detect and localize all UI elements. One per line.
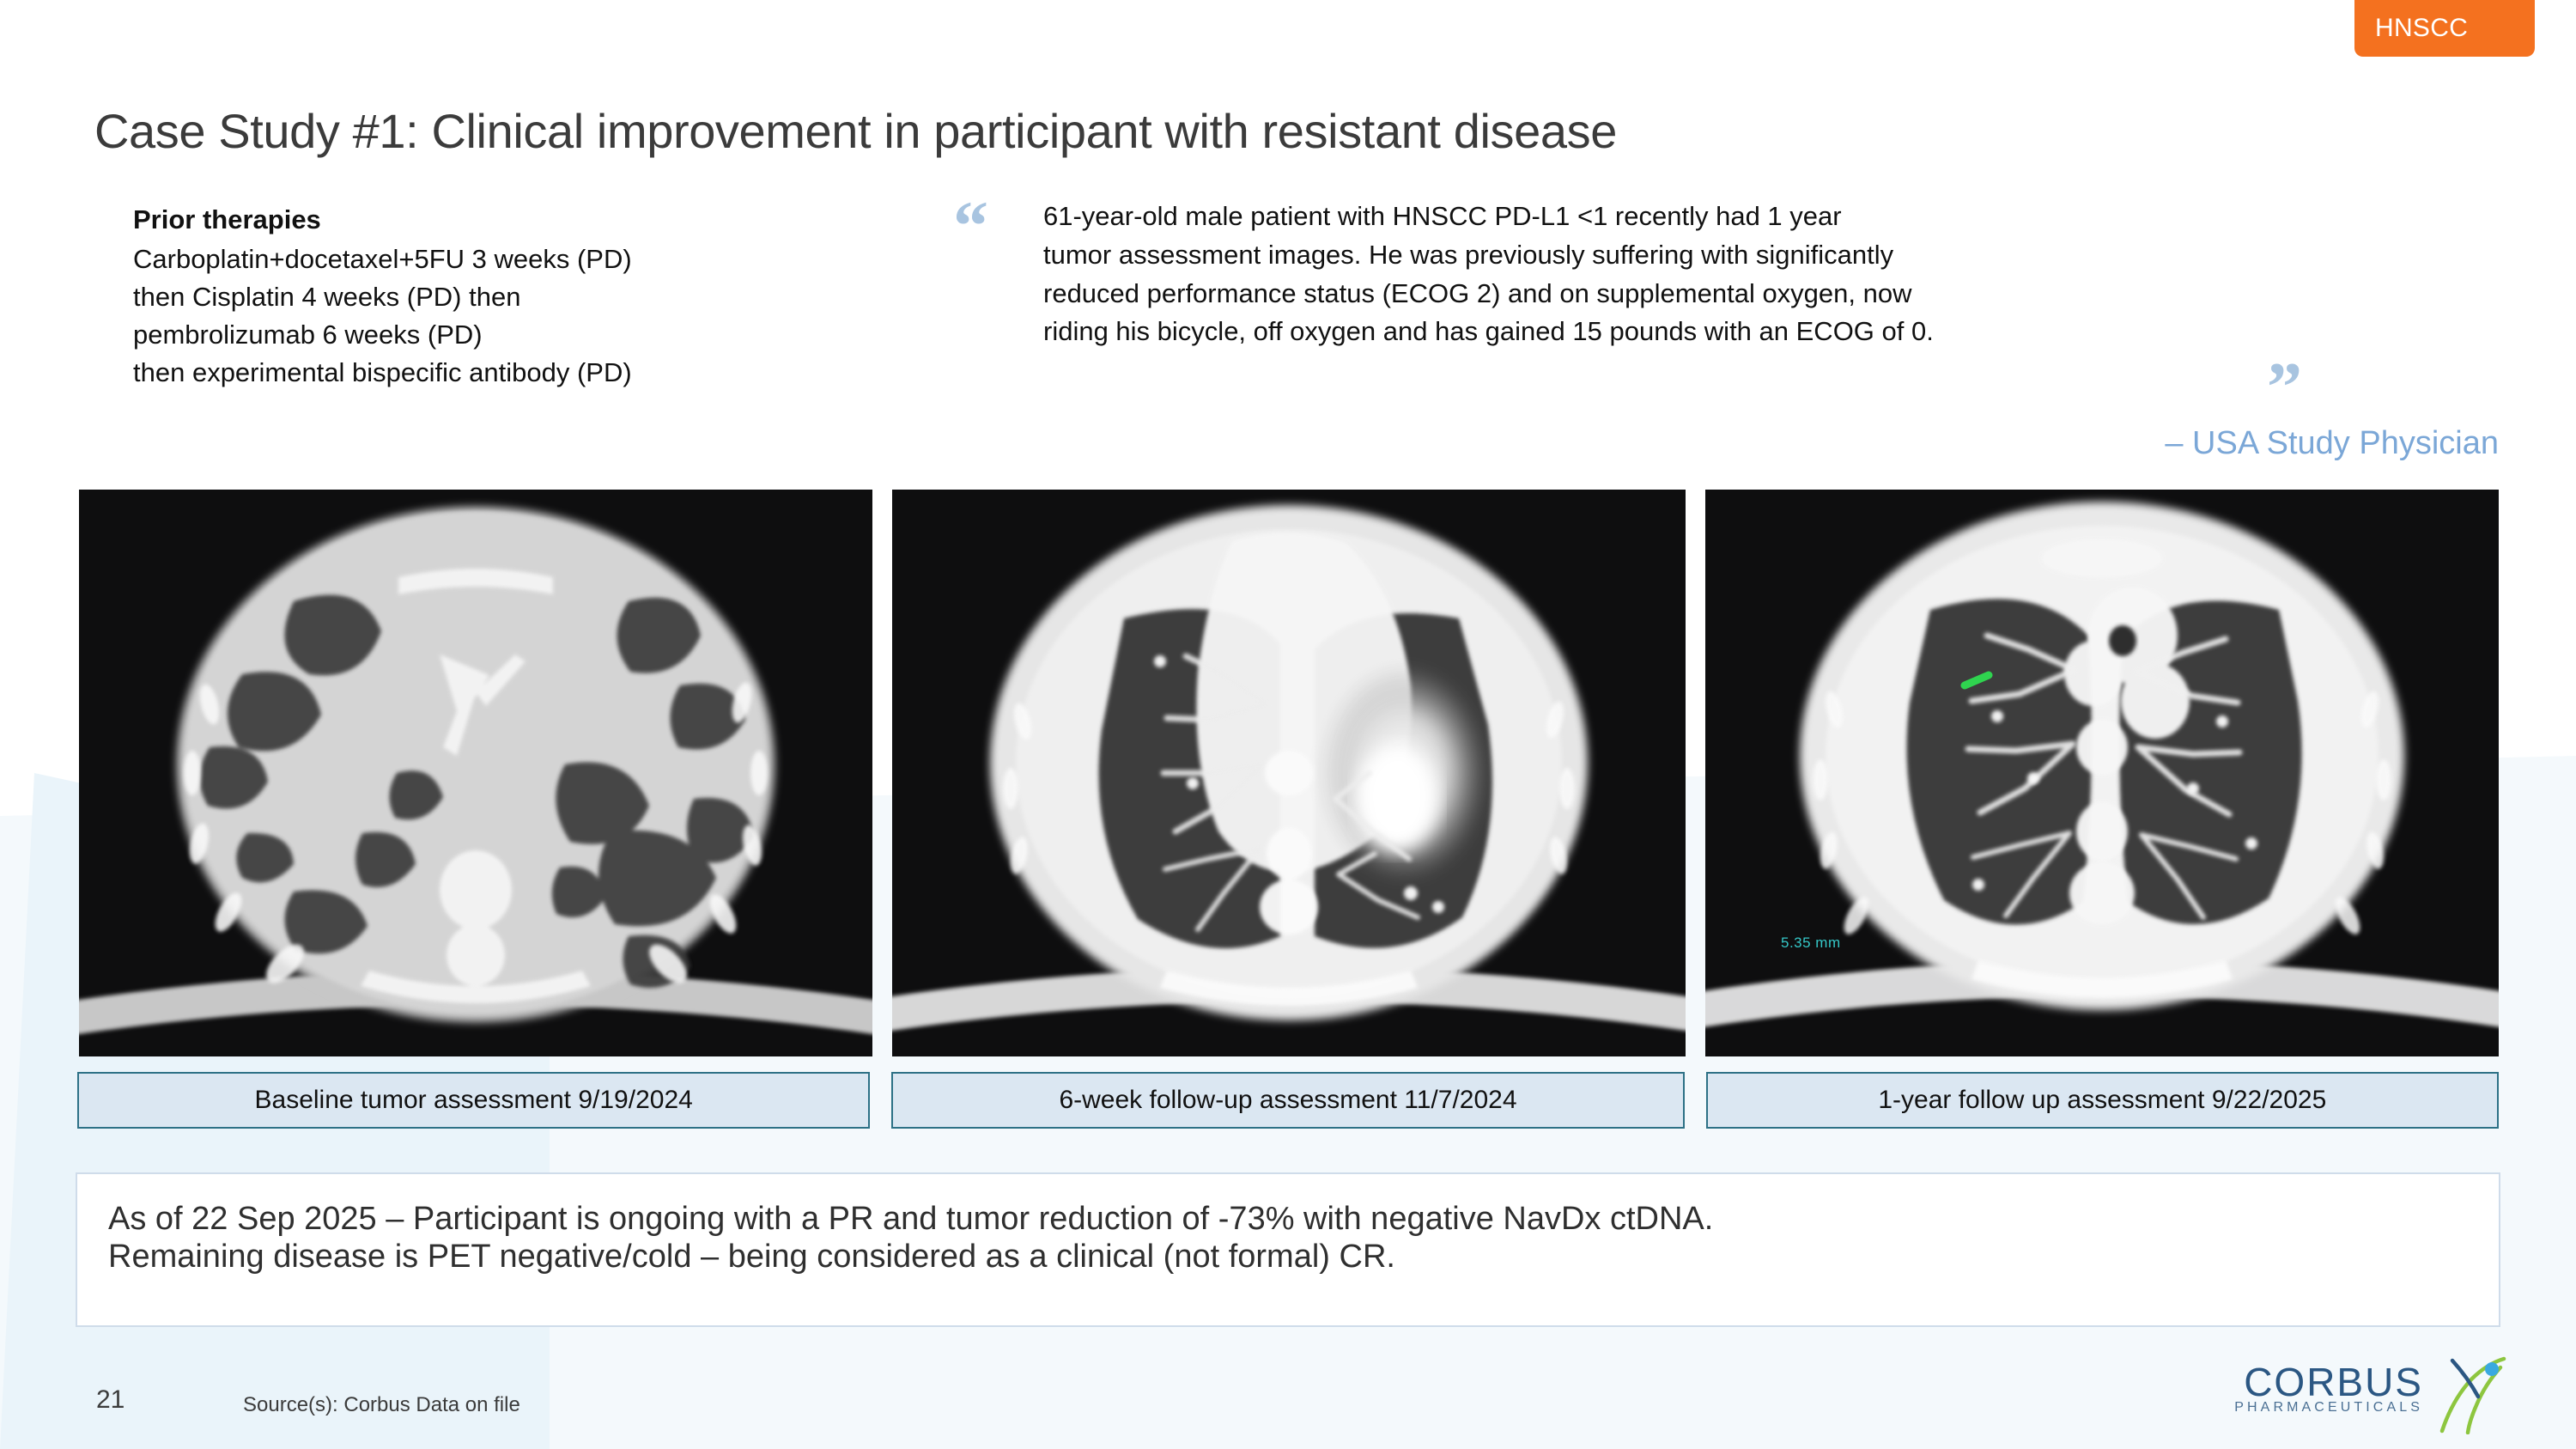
quote-line: riding his bicycle, off oxygen and has g…: [1043, 317, 2263, 346]
summary-line-1: As of 22 Sep 2025 – Participant is ongoi…: [108, 1200, 2468, 1238]
ct-scan-baseline: [79, 490, 872, 1056]
quote-open-icon: “: [953, 191, 988, 261]
ct-six-week-image: [892, 490, 1686, 1056]
prior-therapies-block: Prior therapies Carboplatin+docetaxel+5F…: [133, 204, 932, 396]
ct-scan-six-week: [892, 490, 1686, 1056]
page-title: Case Study #1: Clinical improvement in p…: [94, 103, 1617, 159]
corbus-mark-icon: [2428, 1355, 2521, 1434]
quote-attribution: – USA Study Physician: [2165, 425, 2499, 462]
ct-caption-row: Baseline tumor assessment 9/19/2024 6-we…: [77, 1072, 2499, 1129]
caption-baseline: Baseline tumor assessment 9/19/2024: [77, 1072, 870, 1129]
prior-therapies-line: pembrolizumab 6 weeks (PD): [133, 321, 932, 350]
prior-therapies-line: Carboplatin+docetaxel+5FU 3 weeks (PD): [133, 246, 932, 274]
status-badge-label: HNSCC: [2375, 14, 2468, 42]
caption-six-week: 6-week follow-up assessment 11/7/2024: [891, 1072, 1684, 1129]
ct-one-year-image: [1705, 490, 2499, 1056]
physician-quote-block: 61-year-old male patient with HNSCC PD-L…: [1043, 202, 2263, 356]
page-number: 21: [96, 1385, 125, 1415]
quote-line: tumor assessment images. He was previous…: [1043, 240, 2263, 270]
quote-close-icon: ”: [2267, 352, 2302, 423]
ct-baseline-image: [79, 490, 872, 1056]
caption-one-year: 1-year follow up assessment 9/22/2025: [1706, 1072, 2499, 1129]
quote-line: 61-year-old male patient with HNSCC PD-L…: [1043, 202, 2263, 231]
summary-line-2: Remaining disease is PET negative/cold –…: [108, 1238, 2468, 1275]
status-badge-hnscc: HNSCC: [2354, 0, 2535, 57]
logo-wordmark: CORBUS: [2244, 1359, 2423, 1405]
summary-callout-box: As of 22 Sep 2025 – Participant is ongoi…: [76, 1172, 2500, 1327]
prior-therapies-line: then experimental bispecific antibody (P…: [133, 359, 932, 387]
logo-subtitle: PHARMACEUTICALS: [2234, 1400, 2423, 1416]
slide-canvas: HNSCC Case Study #1: Clinical improvemen…: [0, 0, 2576, 1449]
corbus-logo: CORBUS PHARMACEUTICALS: [2167, 1355, 2528, 1434]
ct-scan-one-year: 5.35 mm: [1705, 490, 2499, 1056]
ct-scan-row: 5.35 mm: [79, 490, 2499, 1056]
quote-line: reduced performance status (ECOG 2) and …: [1043, 279, 2263, 308]
source-note: Source(s): Corbus Data on file: [243, 1393, 520, 1417]
lesion-measurement-label: 5.35 mm: [1781, 935, 1841, 952]
prior-therapies-line: then Cisplatin 4 weeks (PD) then: [133, 283, 932, 312]
prior-therapies-heading: Prior therapies: [133, 204, 932, 235]
